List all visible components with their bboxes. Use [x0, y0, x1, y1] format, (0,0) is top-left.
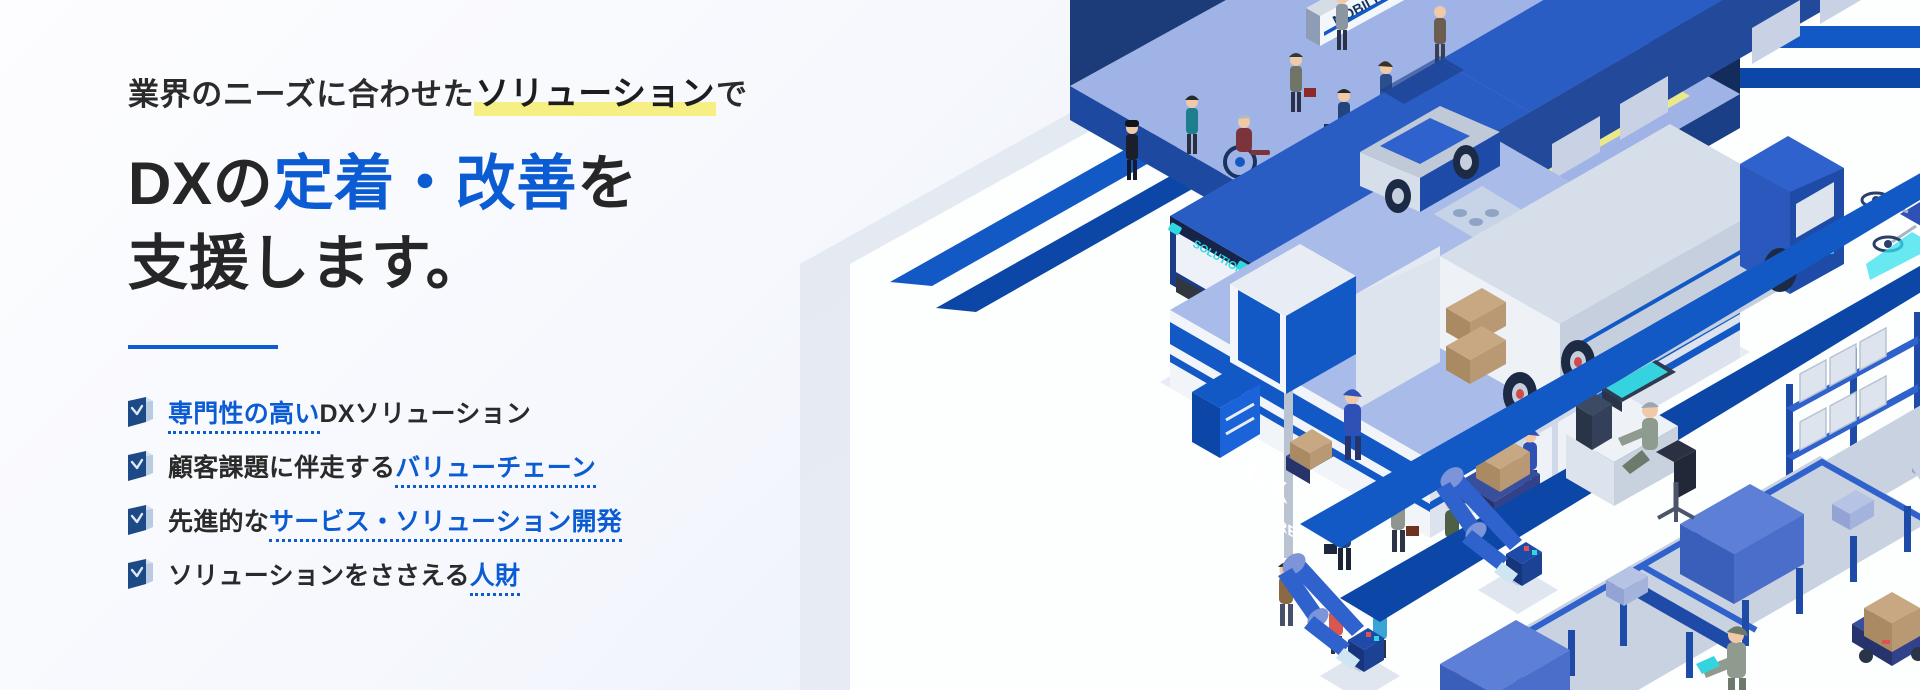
list-item-label: 先進的なサービス・ソリューション開発: [168, 502, 622, 538]
list-item-label: 専門性の高いDXソリューション: [168, 394, 531, 430]
chevron-box-icon: [128, 451, 154, 481]
list-item-plain: 先進的な: [168, 508, 269, 536]
list-item-label: ソリューションをささえる人財: [168, 556, 520, 592]
list-item-highlight: サービス・ソリューション開発: [269, 508, 622, 542]
list-item: 顧客課題に伴走するバリューチェーン: [128, 439, 788, 493]
list-item-highlight: 専門性の高い: [168, 400, 320, 434]
hero-copy: 業界のニーズに合わせたソリューションで DXの定着・改善を支援します。 専門性の…: [128, 72, 788, 601]
headline-pre: DXの: [128, 150, 274, 217]
headline-accent: 定着・改善: [274, 150, 578, 217]
chevron-box-icon: [128, 505, 154, 535]
feature-list: 専門性の高いDXソリューション 顧客課題に伴走するバリューチェーン: [128, 385, 788, 601]
list-item: 先進的なサービス・ソリューション開発: [128, 493, 788, 547]
hero-kicker: 業界のニーズに合わせたソリューションで: [128, 72, 788, 118]
hero-banner: 業界のニーズに合わせたソリューションで DXの定着・改善を支援します。 専門性の…: [0, 0, 1920, 690]
list-item-plain: ソリューションをささえる: [168, 562, 470, 590]
kicker-text-after: で: [716, 77, 748, 112]
chevron-box-icon: [128, 397, 154, 427]
list-item-highlight: 人財: [470, 562, 521, 596]
headline-line1: DXの定着・改善を: [128, 150, 638, 217]
headline-post: を: [577, 150, 638, 217]
kicker-highlight: ソリューション: [474, 72, 716, 118]
chevron-box-icon: [128, 559, 154, 589]
hero-headline: DXの定着・改善を支援します。: [128, 144, 788, 305]
list-item: 専門性の高いDXソリューション: [128, 385, 788, 439]
list-item: ソリューションをささえる人財: [128, 547, 788, 601]
list-item-highlight: バリューチェーン: [395, 454, 596, 488]
kicker-text-before: 業界のニーズに合わせた: [128, 77, 474, 112]
divider-rule: [128, 345, 278, 349]
headline-line2: 支援します。: [128, 230, 486, 297]
list-item-label: 顧客課題に伴走するバリューチェーン: [168, 448, 596, 484]
isometric-illustration: MOBILITY: [740, 0, 1920, 690]
list-item-plain: 顧客課題に伴走する: [168, 454, 395, 482]
list-item-plain: DXソリューション: [320, 400, 531, 428]
